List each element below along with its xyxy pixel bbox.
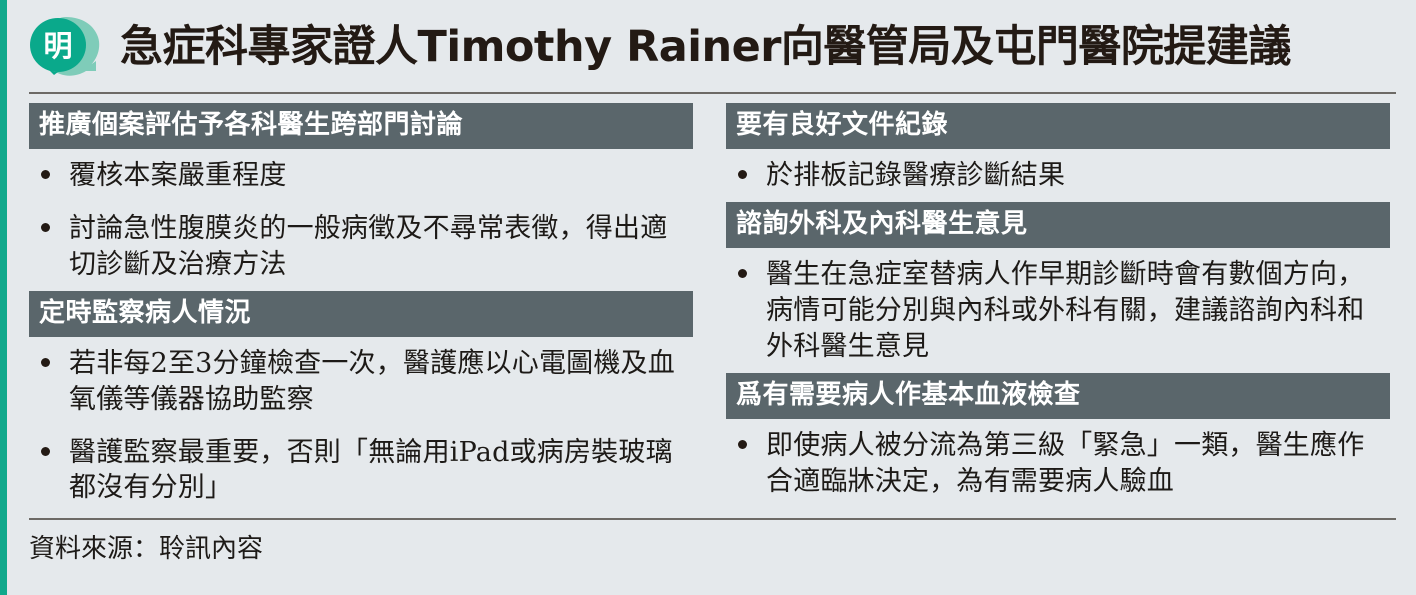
bullet-list-regular-monitoring: 若非每2至3分鐘檢查一次，醫護應以心電圖機及血氧儀等儀器協助監察 醫護監察最重要… xyxy=(29,337,693,515)
bullet-list-good-documentation: 於排板記錄醫療診斷結果 xyxy=(726,149,1390,202)
bullet-dot-icon xyxy=(41,447,50,456)
section-heading-consult-specialists: 諮詢外科及內科醫生意見 xyxy=(726,202,1390,248)
list-item: 於排板記錄醫療診斷結果 xyxy=(726,149,1390,202)
svg-text:明: 明 xyxy=(43,29,72,63)
list-item-text: 醫護監察最重要，否則「無論用iPad或病房裝玻璃都沒有分別」 xyxy=(69,437,673,504)
bullet-dot-icon xyxy=(41,170,50,179)
list-item-text: 覆核本案嚴重程度 xyxy=(69,160,287,191)
list-item: 討論急性腹膜炎的一般病徵及不尋常表徵，得出適切診斷及治療方法 xyxy=(29,202,693,291)
bullet-list-consult-specialists: 醫生在急症室替病人作早期診斷時會有數個方向，病情可能分別與內科或外科有關，建議諮… xyxy=(726,248,1390,373)
bullet-dot-icon xyxy=(738,440,747,449)
source-note: 資料來源：聆訊內容 xyxy=(29,528,263,565)
header: 明 急症科專家證人Timothy Rainer向醫管局及屯門醫院提建議 xyxy=(7,0,1416,94)
list-item: 若非每2至3分鐘檢查一次，醫護應以心電圖機及血氧儀等儀器協助監察 xyxy=(29,337,693,426)
bullet-list-cross-department-discussion: 覆核本案嚴重程度 討論急性腹膜炎的一般病徵及不尋常表徵，得出適切診斷及治療方法 xyxy=(29,149,693,291)
bullet-dot-icon xyxy=(738,269,747,278)
section-heading-good-documentation: 要有良好文件紀錄 xyxy=(726,103,1390,149)
section-heading-basic-blood-test: 爲有需要病人作基本血液檢查 xyxy=(726,373,1390,419)
bullet-dot-icon xyxy=(41,358,50,367)
section-heading-regular-monitoring: 定時監察病人情況 xyxy=(29,291,693,337)
footer-divider xyxy=(29,518,1396,520)
infographic-page: 明 急症科專家證人Timothy Rainer向醫管局及屯門醫院提建議 推廣個案… xyxy=(0,0,1416,595)
list-item: 覆核本案嚴重程度 xyxy=(29,149,693,202)
title-divider xyxy=(29,92,1396,94)
list-item: 醫護監察最重要，否則「無論用iPad或病房裝玻璃都沒有分別」 xyxy=(29,426,693,515)
bullet-dot-icon xyxy=(41,223,50,232)
mingpao-logo-icon: 明 xyxy=(22,15,114,79)
page-title: 急症科專家證人Timothy Rainer向醫管局及屯門醫院提建議 xyxy=(120,26,1291,69)
mingpao-logo: 明 xyxy=(22,15,114,79)
bullet-list-basic-blood-test: 即使病人被分流為第三級「緊急」一類，醫生應作合適臨牀決定，為有需要病人驗血 xyxy=(726,419,1390,508)
list-item-text: 醫生在急症室替病人作早期診斷時會有數個方向，病情可能分別與內科或外科有關，建議諮… xyxy=(766,259,1364,362)
list-item-text: 即使病人被分流為第三級「緊急」一類，醫生應作合適臨牀決定，為有需要病人驗血 xyxy=(766,430,1364,497)
column-right: 要有良好文件紀錄 於排板記錄醫療診斷結果 諮詢外科及內科醫生意見 醫生在急症室替… xyxy=(726,103,1390,515)
list-item-text: 討論急性腹膜炎的一般病徵及不尋常表徵，得出適切診斷及治療方法 xyxy=(69,213,667,280)
list-item-text: 若非每2至3分鐘檢查一次，醫護應以心電圖機及血氧儀等儀器協助監察 xyxy=(69,348,675,415)
column-left: 推廣個案評估予各科醫生跨部門討論 覆核本案嚴重程度 討論急性腹膜炎的一般病徵及不… xyxy=(29,103,693,515)
section-heading-cross-department-discussion: 推廣個案評估予各科醫生跨部門討論 xyxy=(29,103,693,149)
list-item: 即使病人被分流為第三級「緊急」一類，醫生應作合適臨牀決定，為有需要病人驗血 xyxy=(726,419,1390,508)
bullet-dot-icon xyxy=(738,170,747,179)
content-columns: 推廣個案評估予各科醫生跨部門討論 覆核本案嚴重程度 討論急性腹膜炎的一般病徵及不… xyxy=(7,103,1416,515)
list-item-text: 於排板記錄醫療診斷結果 xyxy=(766,160,1065,191)
list-item: 醫生在急症室替病人作早期診斷時會有數個方向，病情可能分別與內科或外科有關，建議諮… xyxy=(726,248,1390,373)
